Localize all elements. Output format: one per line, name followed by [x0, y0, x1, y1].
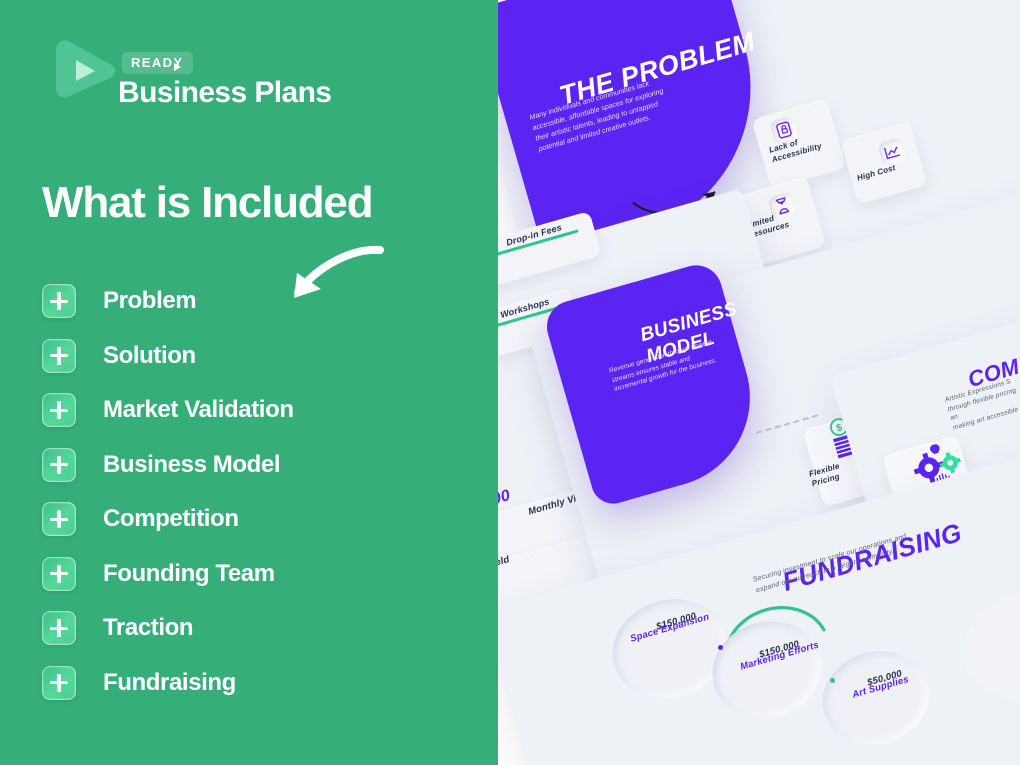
- list-item-label: Solution: [103, 342, 196, 370]
- svg-text:$: $: [835, 422, 844, 434]
- list-item[interactable]: Market Validation: [42, 391, 294, 429]
- brand-title-i-letter: i: [173, 76, 181, 109]
- plus-icon[interactable]: [42, 557, 76, 591]
- list-item[interactable]: Business Model: [42, 446, 294, 484]
- list-item[interactable]: Traction: [42, 609, 294, 647]
- plus-icon[interactable]: [42, 611, 76, 645]
- plus-icon[interactable]: [42, 448, 76, 482]
- list-item[interactable]: Competition: [42, 500, 294, 538]
- brand-title-i: i: [173, 76, 181, 109]
- list-item-label: Market Validation: [103, 396, 294, 424]
- list-item[interactable]: Solution: [42, 337, 294, 375]
- brand-logo[interactable]: [48, 38, 118, 100]
- curved-arrow-down-left-icon: [280, 240, 385, 320]
- list-item-label: Founding Team: [103, 560, 275, 588]
- list-item[interactable]: Founding Team: [42, 555, 294, 593]
- list-item-label: Fundraising: [103, 669, 236, 697]
- plus-icon[interactable]: [42, 502, 76, 536]
- brand-title-part1: Bus: [118, 76, 173, 109]
- play-dot-icon: [174, 63, 181, 71]
- page-title: What is Included: [42, 178, 372, 228]
- left-green-panel: READY Business Plans What is Included Pr…: [0, 0, 498, 765]
- screenshot-root: THE PROBLEM Many individuals and communi…: [0, 0, 1020, 765]
- plus-icon[interactable]: [42, 284, 76, 318]
- list-item-label: Problem: [103, 287, 196, 315]
- brand-title: Business Plans: [118, 76, 331, 110]
- list-item-label: Business Model: [103, 451, 280, 479]
- plus-icon[interactable]: [42, 393, 76, 427]
- list-item-label: Traction: [103, 614, 193, 642]
- plus-icon[interactable]: [42, 339, 76, 373]
- plus-icon[interactable]: [42, 666, 76, 700]
- list-item[interactable]: Fundraising: [42, 664, 294, 702]
- ready-badge: READY: [122, 52, 193, 74]
- brand-title-part2: ness Plans: [181, 76, 332, 109]
- play-triangle-icon: [48, 38, 118, 100]
- list-item-label: Competition: [103, 505, 239, 533]
- fundraising-node-dot-1: [718, 645, 723, 650]
- list-item[interactable]: Problem: [42, 282, 294, 320]
- fundraising-node-dot-2: [830, 678, 835, 683]
- included-list: Problem Solution Market Validation Busin…: [42, 282, 294, 718]
